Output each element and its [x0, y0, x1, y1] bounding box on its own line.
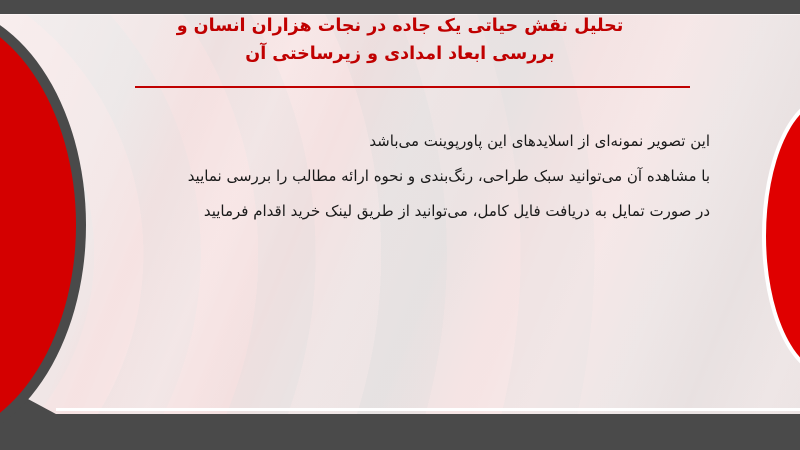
body-line-1: این تصویر نمونه‌ای از اسلایدهای این پاور…: [90, 124, 710, 159]
slide-title-line-2: بررسی ابعاد امدادی و زیرساختی آن: [100, 40, 700, 68]
slide-content: تحلیل نقش حیاتی یک جاده در نجات هزاران ا…: [0, 0, 800, 450]
body-line-2: با مشاهده آن می‌توانید سبک طراحی، رنگ‌بن…: [90, 159, 710, 194]
presentation-slide: تحلیل نقش حیاتی یک جاده در نجات هزاران ا…: [0, 0, 800, 450]
body-line-3: در صورت تمایل به دریافت فایل کامل، می‌تو…: [90, 194, 710, 229]
slide-title: تحلیل نقش حیاتی یک جاده در نجات هزاران ا…: [100, 12, 700, 68]
title-underline: [135, 86, 690, 88]
slide-body-text: این تصویر نمونه‌ای از اسلایدهای این پاور…: [90, 124, 710, 229]
slide-title-line-1: تحلیل نقش حیاتی یک جاده در نجات هزاران ا…: [100, 12, 700, 40]
